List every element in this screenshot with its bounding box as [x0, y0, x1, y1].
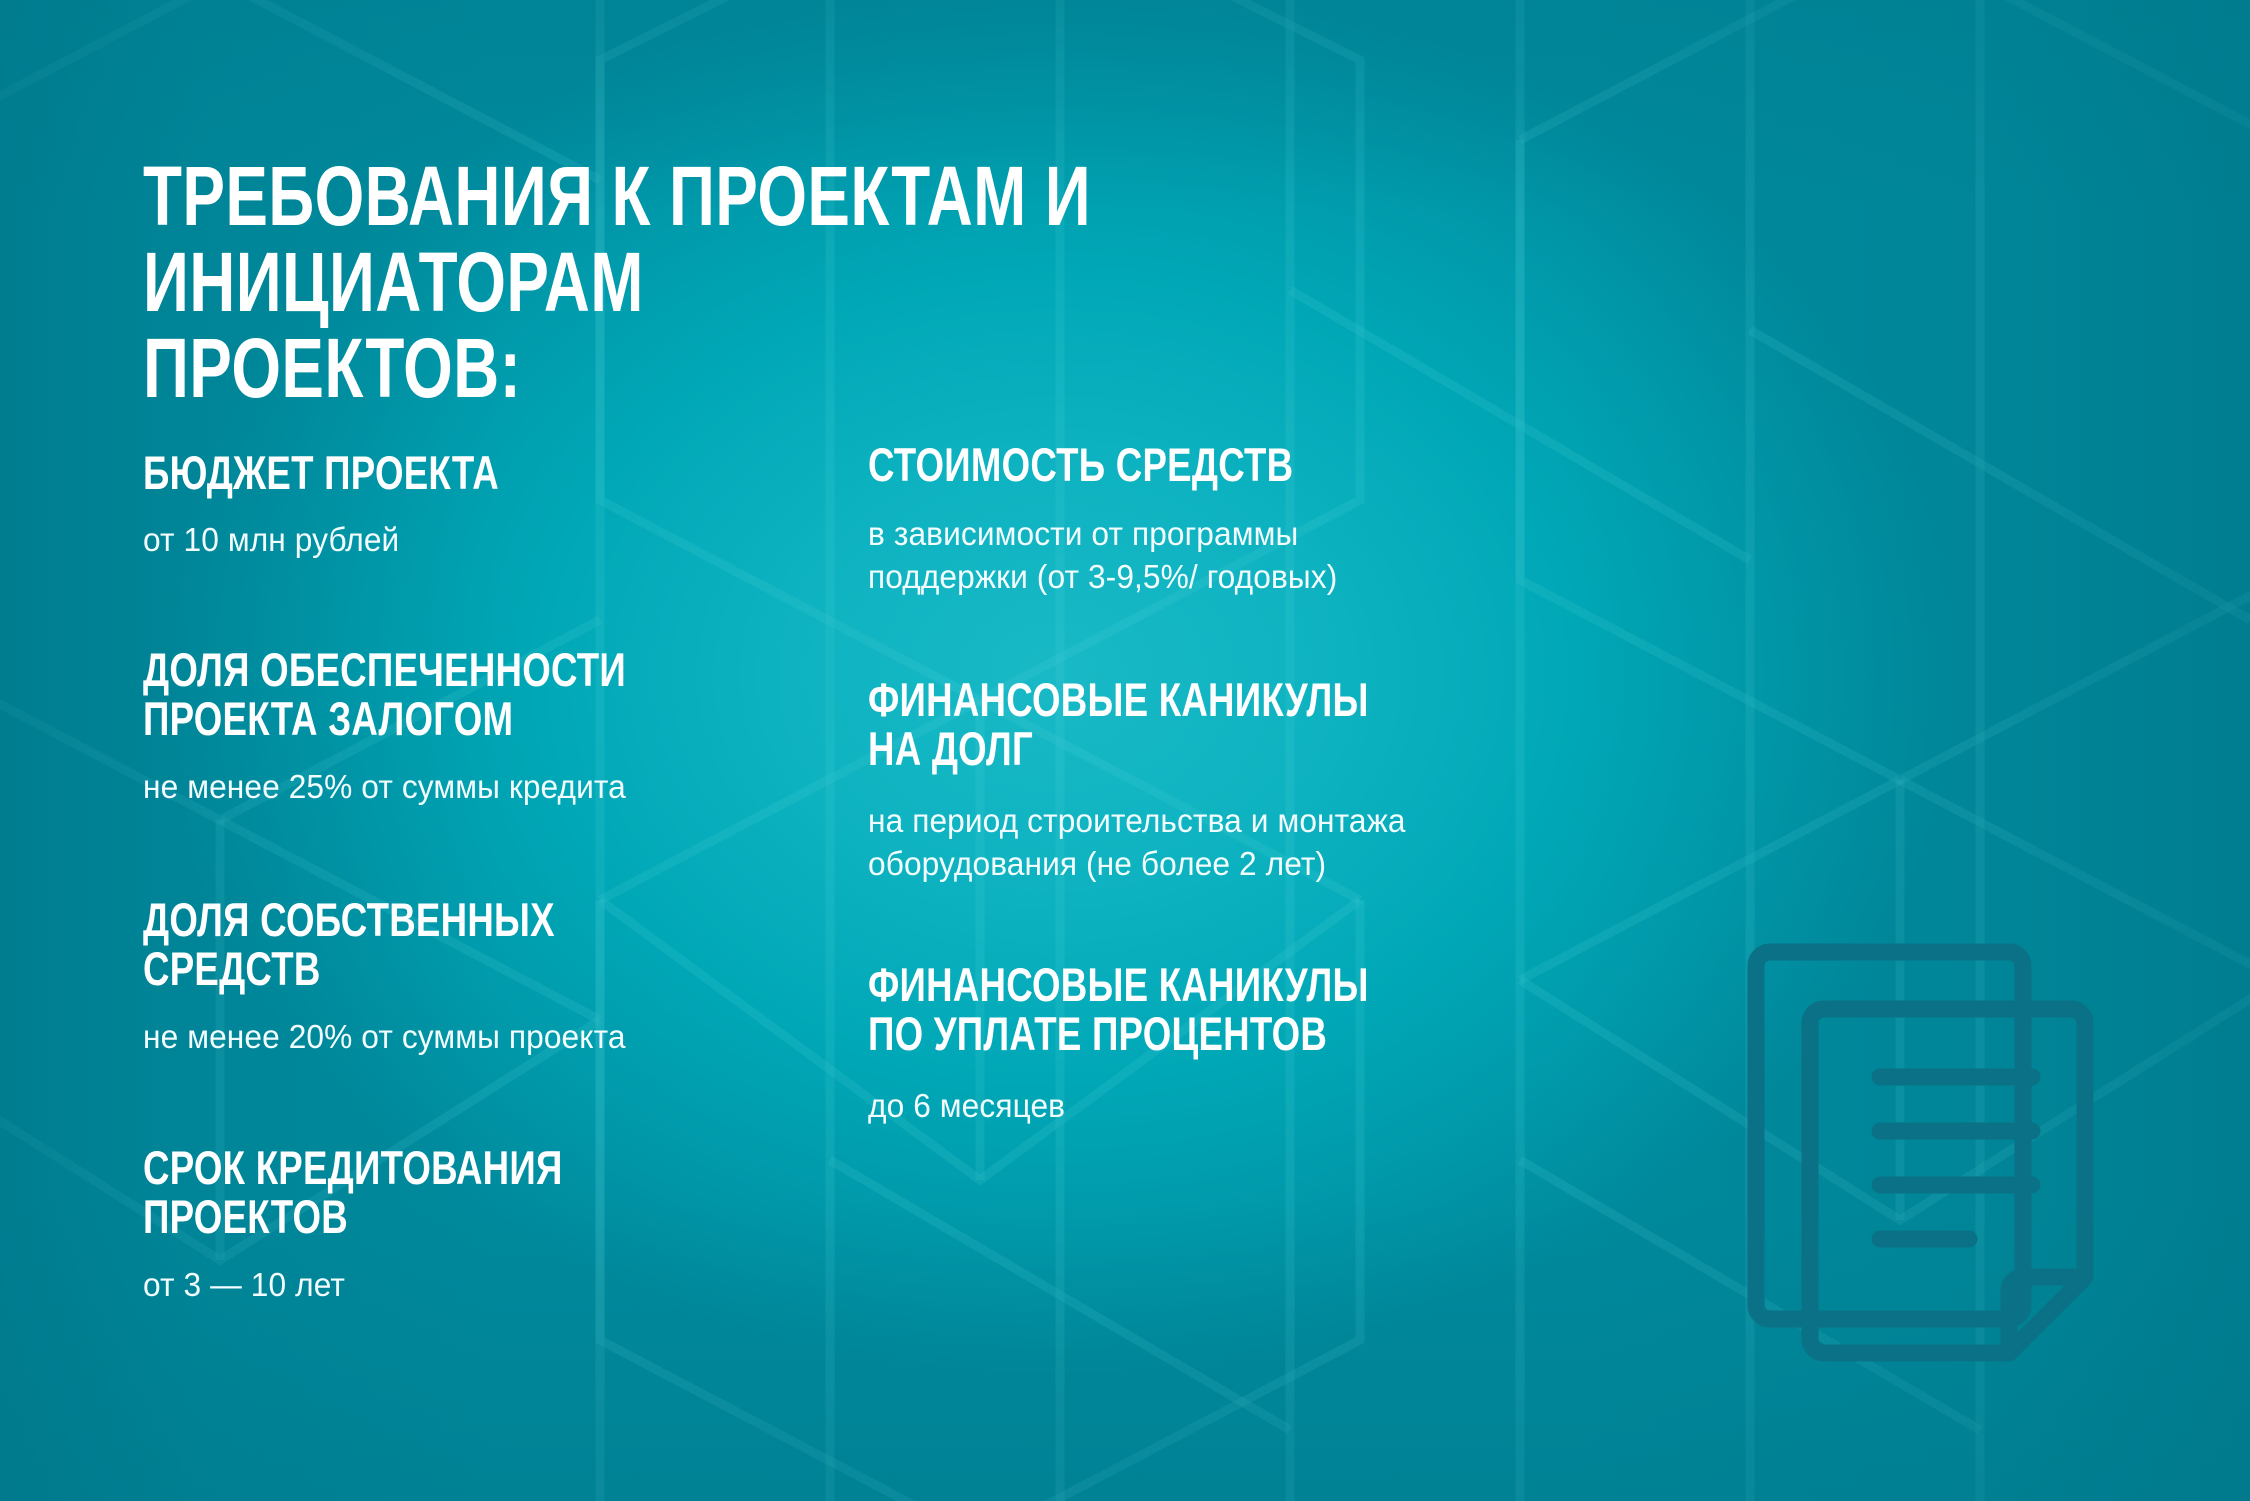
slide-root: ТРЕБОВАНИЯ К ПРОЕКТАМ И ИНИЦИАТОРАМ ПРОЕ… [0, 0, 2250, 1501]
list-item-own-funds-share: ДОЛЯ СОБСТВЕННЫХ СРЕДСТВ не менее 20% от… [143, 895, 783, 1059]
list-item-budget: БЮДЖЕТ ПРОЕКТА от 10 млн рублей [143, 448, 783, 562]
item-description: на период строительства и монтажа оборуд… [868, 800, 1540, 886]
list-item-funds-cost: СТОИМОСТЬ СРЕДСТВ в зависимости от прогр… [868, 440, 1568, 599]
item-title: СТОИМОСТЬ СРЕДСТВ [868, 440, 1414, 489]
list-item-interest-holiday: ФИНАНСОВЫЕ КАНИКУЛЫ ПО УПЛАТЕ ПРОЦЕНТОВ … [868, 960, 1568, 1128]
page-title: ТРЕБОВАНИЯ К ПРОЕКТАМ И ИНИЦИАТОРАМ ПРОЕ… [143, 154, 1435, 411]
item-title: ДОЛЯ СОБСТВЕННЫХ СРЕДСТВ [143, 895, 642, 994]
item-title: ФИНАНСОВЫЕ КАНИКУЛЫ НА ДОЛГ [868, 675, 1414, 774]
list-item-collateral-share: ДОЛЯ ОБЕСПЕЧЕННОСТИ ПРОЕКТА ЗАЛОГОМ не м… [143, 645, 783, 809]
item-title: ДОЛЯ ОБЕСПЕЧЕННОСТИ ПРОЕКТА ЗАЛОГОМ [143, 645, 642, 744]
item-title: ФИНАНСОВЫЕ КАНИКУЛЫ ПО УПЛАТЕ ПРОЦЕНТОВ [868, 960, 1414, 1059]
documents-icon [1732, 920, 2202, 1385]
item-description: от 3 — 10 лет [143, 1264, 757, 1307]
slide-content: ТРЕБОВАНИЯ К ПРОЕКТАМ И ИНИЦИАТОРАМ ПРОЕ… [0, 0, 2250, 1501]
item-title: СРОК КРЕДИТОВАНИЯ ПРОЕКТОВ [143, 1143, 642, 1242]
item-description: в зависимости от программы поддержки (от… [868, 513, 1540, 599]
item-title: БЮДЖЕТ ПРОЕКТА [143, 448, 642, 497]
item-description: от 10 млн рублей [143, 519, 757, 562]
item-description: не менее 25% от суммы кредита [143, 766, 757, 809]
item-description: до 6 месяцев [868, 1085, 1540, 1128]
list-item-debt-holiday: ФИНАНСОВЫЕ КАНИКУЛЫ НА ДОЛГ на период ст… [868, 675, 1568, 885]
list-item-credit-term: СРОК КРЕДИТОВАНИЯ ПРОЕКТОВ от 3 — 10 лет [143, 1143, 783, 1307]
item-description: не менее 20% от суммы проекта [143, 1016, 757, 1059]
